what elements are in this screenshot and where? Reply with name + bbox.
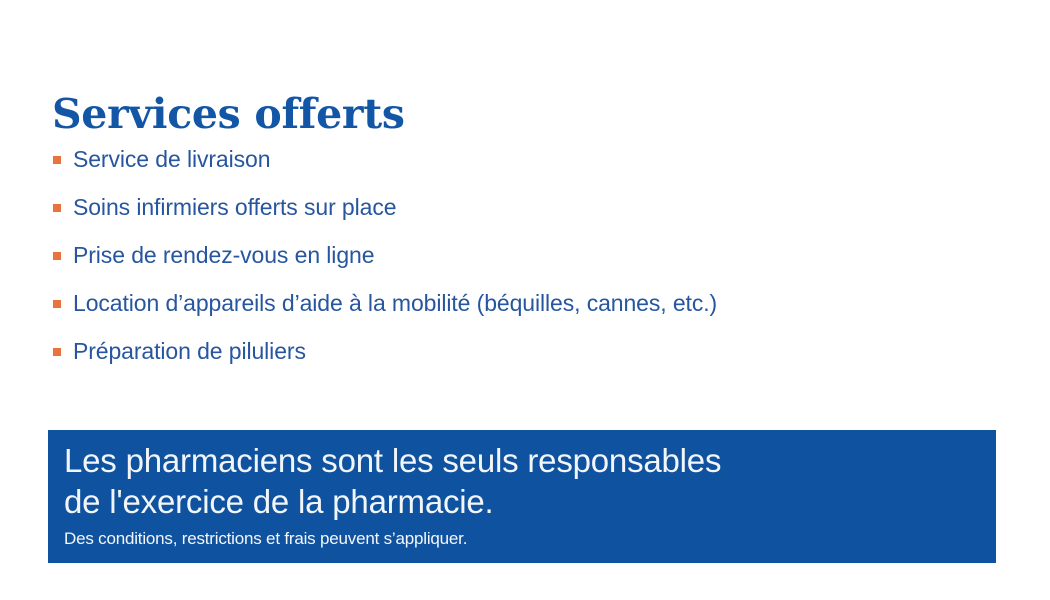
list-item-label: Prise de rendez-vous en ligne (73, 238, 374, 272)
square-bullet-icon (53, 204, 61, 212)
square-bullet-icon (53, 300, 61, 308)
list-item: Prise de rendez-vous en ligne (52, 238, 992, 286)
disclaimer-banner: Les pharmaciens sont les seuls responsab… (48, 430, 996, 563)
banner-subline: Des conditions, restrictions et frais pe… (64, 528, 980, 550)
list-item: Service de livraison (52, 142, 992, 190)
list-item: Location d’appareils d’aide à la mobilit… (52, 286, 992, 334)
square-bullet-icon (53, 252, 61, 260)
list-item-label: Service de livraison (73, 142, 270, 176)
slide-canvas: Services offerts Service de livraison So… (0, 0, 1050, 600)
square-bullet-icon (53, 156, 61, 164)
list-item: Soins infirmiers offerts sur place (52, 190, 992, 238)
list-item-label: Soins infirmiers offerts sur place (73, 190, 396, 224)
banner-headline-line-2: de l'exercice de la pharmacie. (64, 481, 980, 522)
list-item-label: Location d’appareils d’aide à la mobilit… (73, 286, 717, 320)
services-bullet-list: Service de livraison Soins infirmiers of… (52, 142, 992, 382)
page-title: Services offerts (52, 89, 405, 139)
square-bullet-icon (53, 348, 61, 356)
list-item-label: Préparation de piluliers (73, 334, 306, 368)
list-item: Préparation de piluliers (52, 334, 992, 382)
banner-headline-line-1: Les pharmaciens sont les seuls responsab… (64, 440, 980, 481)
